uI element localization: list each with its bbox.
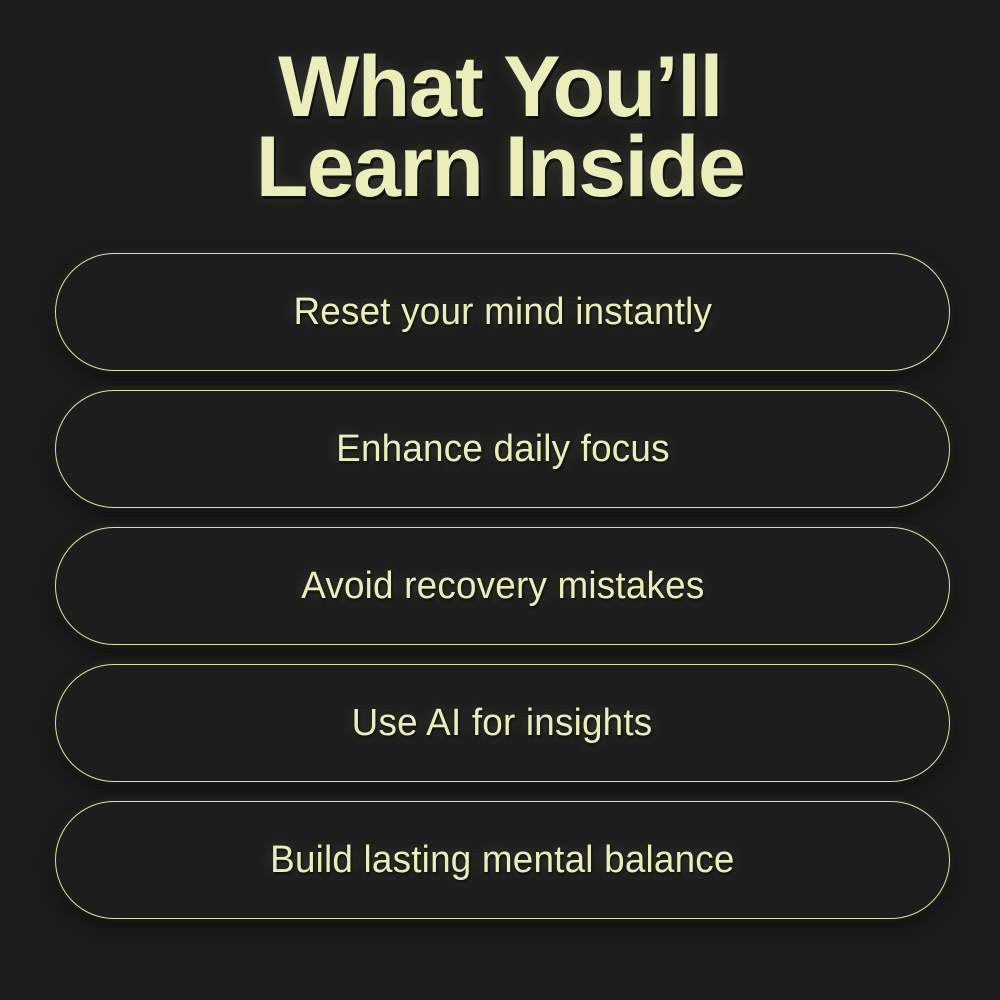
- list-item-label: Build lasting mental balance: [270, 839, 734, 882]
- list-item-label: Enhance daily focus: [336, 428, 670, 471]
- page-title-line-2: Learn Inside: [40, 128, 960, 208]
- list-item-build-lasting-mental-balance[interactable]: Build lasting mental balance: [55, 801, 950, 919]
- list-item-reset-your-mind-instantly[interactable]: Reset your mind instantly: [55, 253, 950, 371]
- list-item-use-ai-for-insights[interactable]: Use AI for insights: [55, 664, 950, 782]
- list-item-enhance-daily-focus[interactable]: Enhance daily focus: [55, 390, 950, 508]
- list-item-label: Avoid recovery mistakes: [301, 565, 704, 608]
- page-title: What You’ll Learn Inside: [0, 48, 1000, 208]
- page-title-line-1: What You’ll: [40, 48, 960, 128]
- poster-canvas: What You’ll Learn Inside Reset your mind…: [0, 0, 1000, 1000]
- benefits-list: Reset your mind instantly Enhance daily …: [55, 253, 950, 919]
- list-item-avoid-recovery-mistakes[interactable]: Avoid recovery mistakes: [55, 527, 950, 645]
- list-item-label: Reset your mind instantly: [293, 291, 712, 334]
- list-item-label: Use AI for insights: [352, 702, 653, 745]
